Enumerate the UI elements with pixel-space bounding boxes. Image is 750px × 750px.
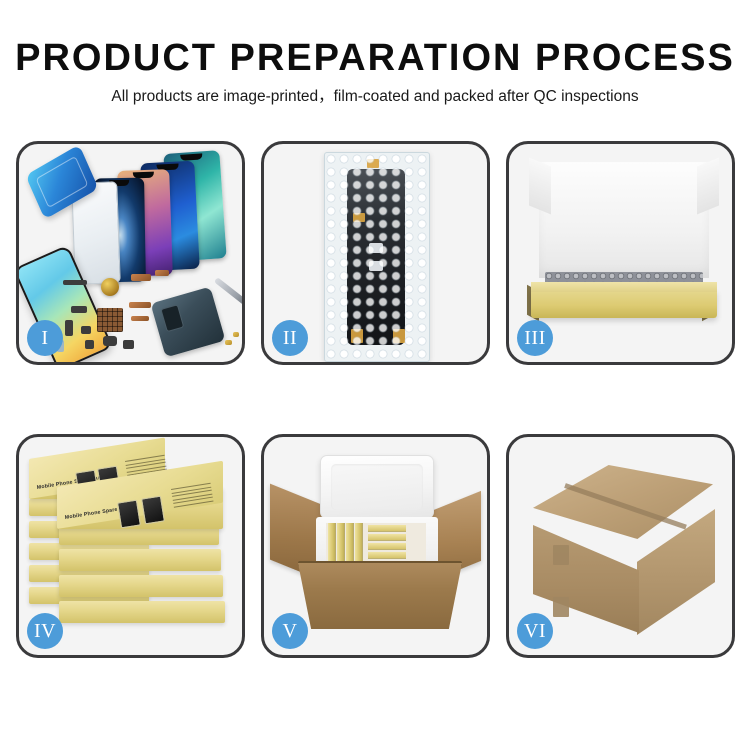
foam-lid-icon bbox=[320, 455, 434, 519]
stacked-box-icon bbox=[59, 601, 225, 623]
component-part-icon bbox=[131, 316, 149, 321]
labeled-box-icon: Mobile Phone Spare Parts bbox=[57, 487, 223, 529]
process-step-panel-4[interactable]: Mobile Phone Spare Parts Mobile Phone Sp… bbox=[16, 434, 245, 658]
component-part-icon bbox=[103, 336, 117, 346]
step-number-badge: III bbox=[517, 320, 553, 356]
yellow-box-icon bbox=[368, 525, 406, 532]
component-part-icon bbox=[85, 340, 94, 349]
step-number-badge: IV bbox=[27, 613, 63, 649]
stacked-box-icon bbox=[59, 549, 221, 571]
process-step-panel-3[interactable]: III bbox=[506, 141, 735, 365]
phone-notch-icon bbox=[180, 153, 203, 161]
page-subtitle: All products are image-printed，film-coat… bbox=[0, 86, 750, 108]
component-part-icon bbox=[63, 280, 87, 285]
carton-tape-patch-icon bbox=[553, 545, 569, 565]
component-part-icon bbox=[123, 340, 134, 349]
connector-icon bbox=[369, 261, 383, 271]
component-part-icon bbox=[155, 270, 169, 276]
step-number-badge: I bbox=[27, 320, 63, 356]
process-step-panel-6[interactable]: VI bbox=[506, 434, 735, 658]
process-step-grid: I II II bbox=[16, 141, 734, 658]
screen-thumbnail-icon bbox=[117, 500, 141, 529]
chip-array-component-icon bbox=[97, 308, 123, 332]
process-step-panel-1[interactable]: I bbox=[16, 141, 245, 365]
page-header: PRODUCT PREPARATION PROCESS All products… bbox=[0, 0, 750, 108]
box-lid-icon bbox=[539, 162, 709, 278]
component-part-icon bbox=[131, 274, 151, 281]
stacked-box-icon bbox=[59, 575, 223, 597]
component-part-icon bbox=[233, 332, 239, 337]
carton-body-icon bbox=[298, 563, 462, 629]
yellow-box-icon bbox=[368, 552, 406, 559]
page-title: PRODUCT PREPARATION PROCESS bbox=[0, 36, 750, 80]
component-part-icon bbox=[71, 306, 87, 313]
carton-front-face-icon bbox=[533, 525, 639, 633]
tape-strip-icon bbox=[367, 159, 379, 168]
component-part-icon bbox=[225, 340, 232, 345]
yellow-box-icon bbox=[368, 534, 406, 541]
tape-strip-icon bbox=[351, 329, 363, 343]
component-part-icon bbox=[129, 302, 151, 308]
bubble-wrap-bag-icon bbox=[324, 152, 430, 362]
component-part-icon bbox=[81, 326, 91, 334]
wrapped-screen-icon bbox=[347, 169, 405, 345]
screen-thumbnail-icon bbox=[141, 496, 165, 525]
process-step-panel-5[interactable]: V bbox=[261, 434, 490, 658]
step-number-badge: V bbox=[272, 613, 308, 649]
tape-strip-icon bbox=[393, 329, 405, 343]
component-part-icon bbox=[65, 320, 73, 336]
process-step-panel-2[interactable]: II bbox=[261, 141, 490, 365]
gold-coil-component-icon bbox=[101, 278, 119, 296]
tape-strip-icon bbox=[353, 213, 365, 222]
yellow-box-body-icon bbox=[531, 290, 717, 318]
yellow-box-icon bbox=[368, 543, 406, 550]
box-label-detail-lines bbox=[171, 483, 215, 515]
connector-icon bbox=[369, 243, 383, 253]
carton-tape-patch-icon bbox=[553, 597, 569, 617]
step-number-badge: VI bbox=[517, 613, 553, 649]
step-number-badge: II bbox=[272, 320, 308, 356]
